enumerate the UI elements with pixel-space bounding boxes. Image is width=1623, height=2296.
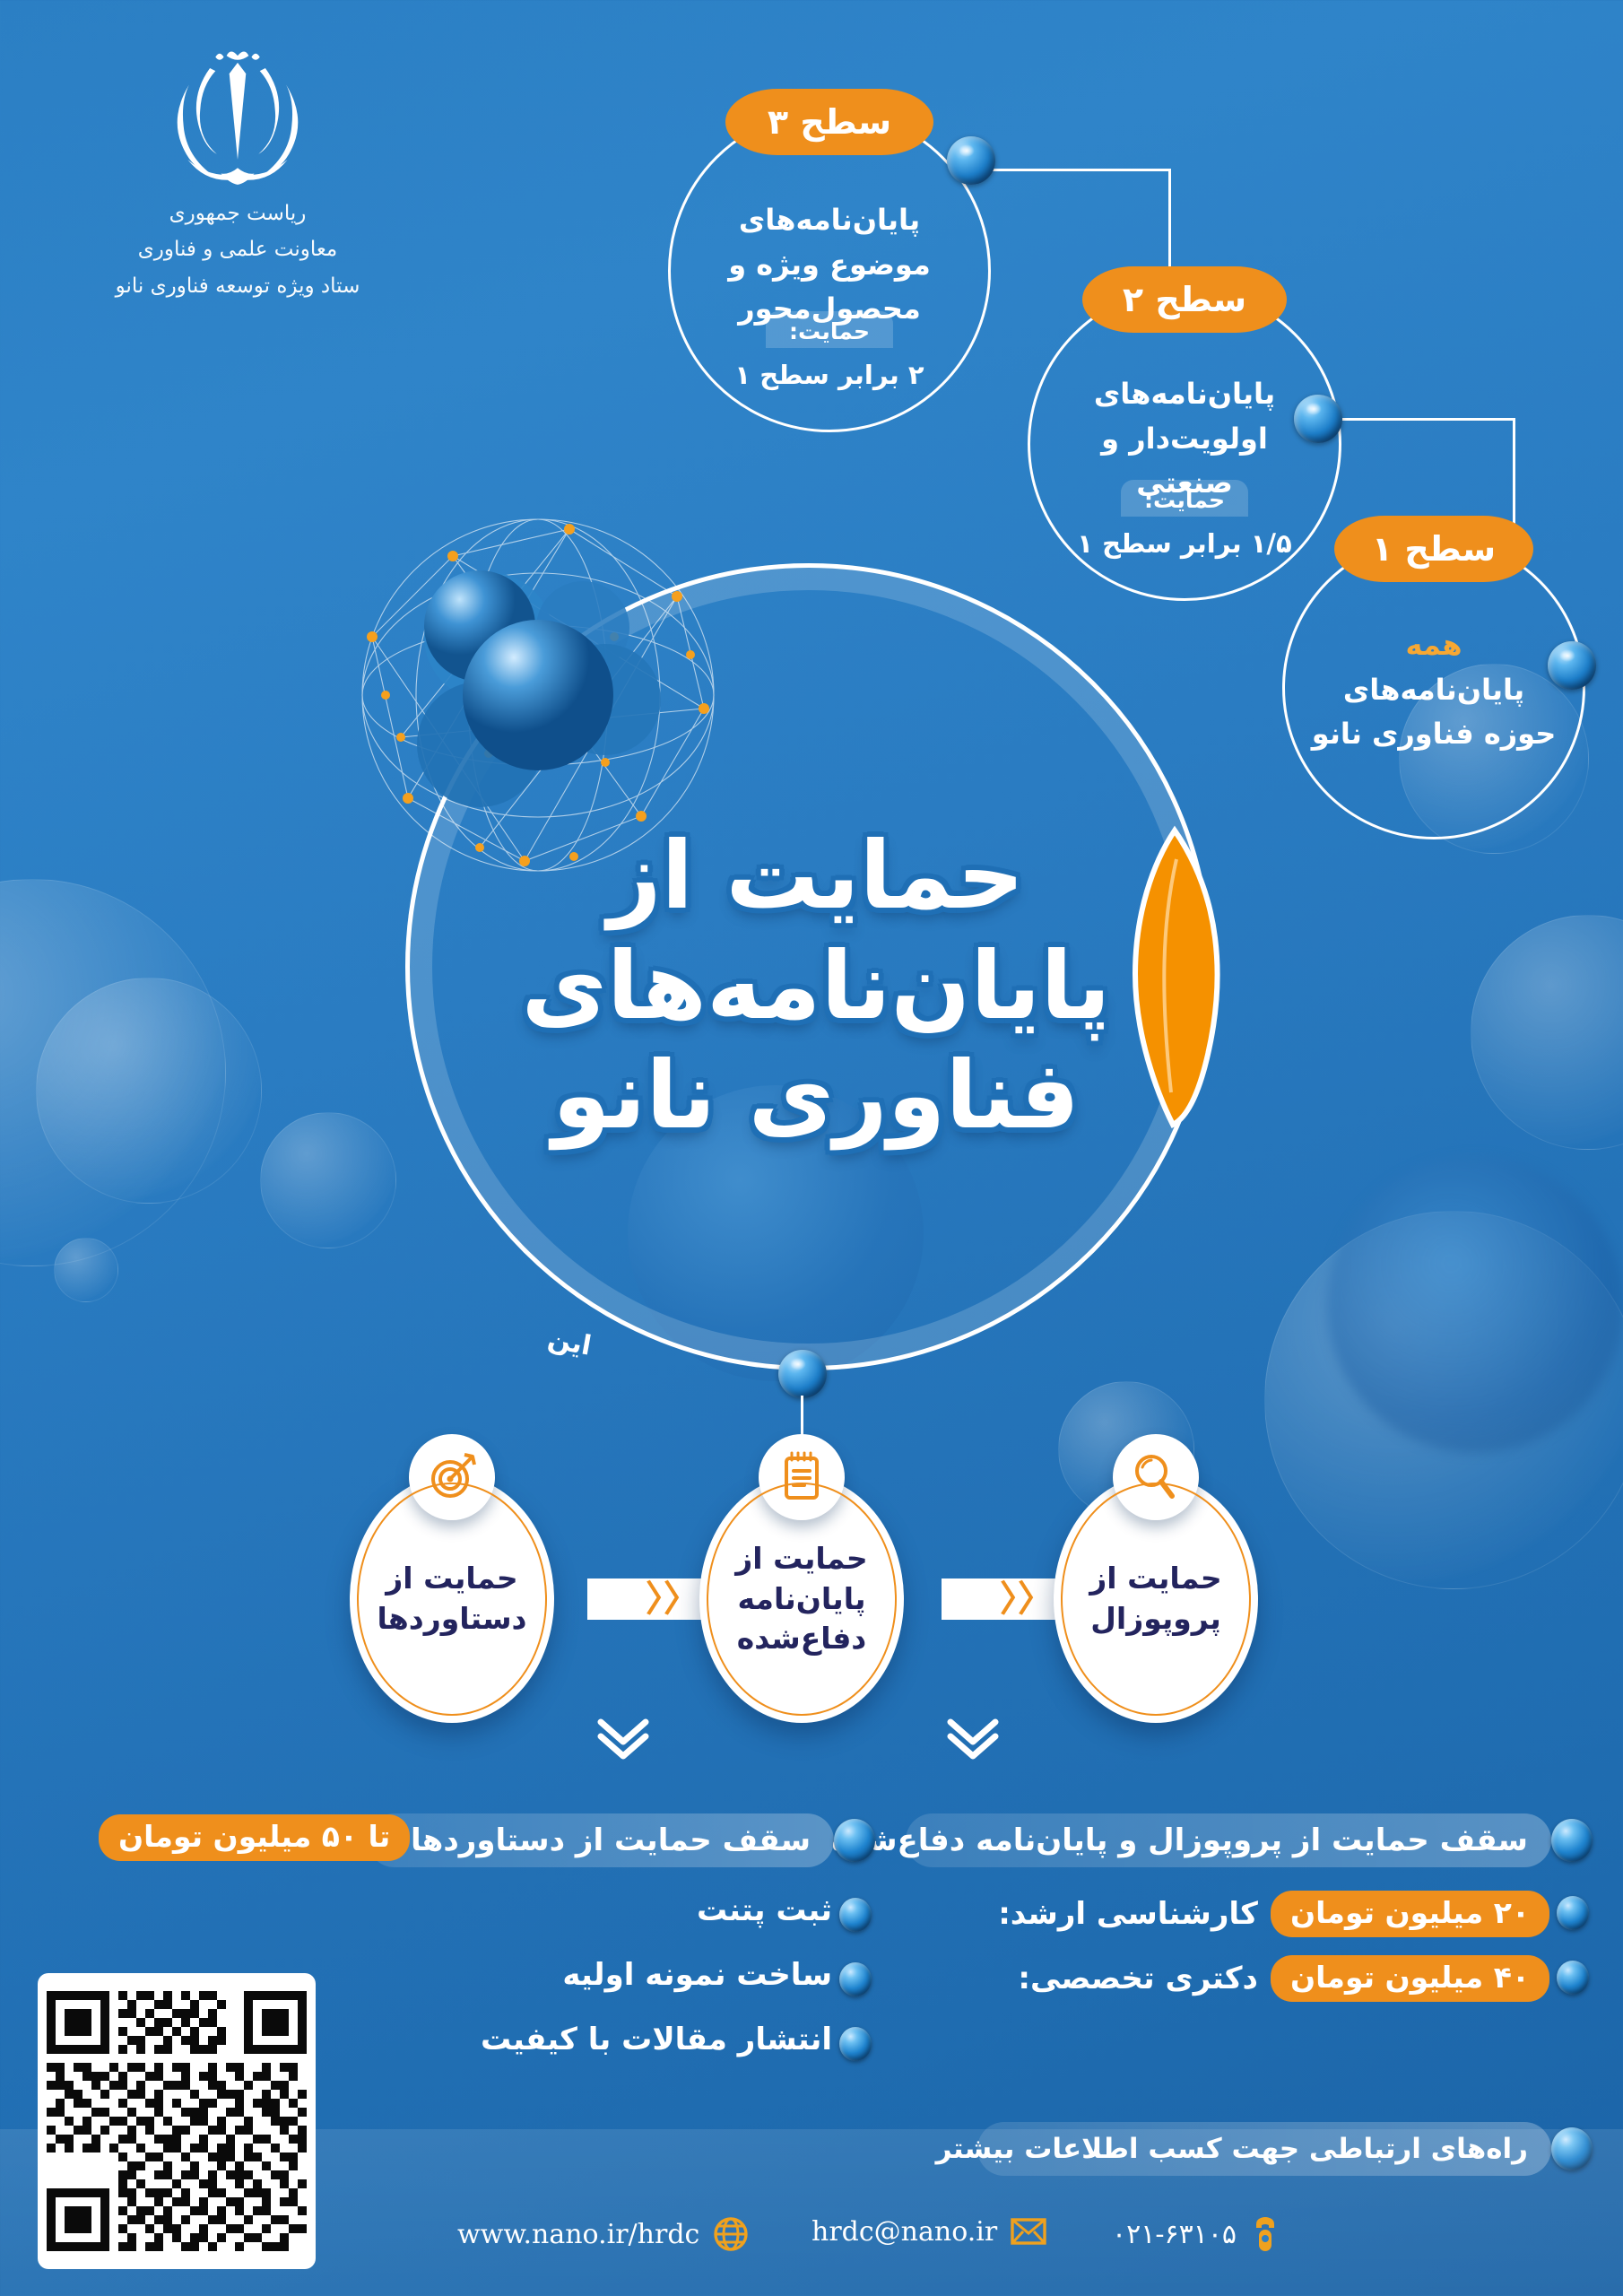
bg-bubble xyxy=(1264,1211,1623,1589)
stage-proposal-label: حمایت از پروپوزال xyxy=(1077,1559,1234,1639)
bg-bubble xyxy=(0,879,226,1266)
level-1-node xyxy=(1548,641,1596,690)
stage-achievements-label: حمایت از دستاوردها xyxy=(365,1559,540,1639)
level-3-node xyxy=(947,136,995,185)
organization-logo: ریاست جمهوری معاونت علمی و فناوری ستاد و… xyxy=(94,38,381,304)
bg-bubble xyxy=(54,1238,118,1302)
telephone-icon xyxy=(1249,2213,1281,2255)
org-line-1: ریاست جمهوری xyxy=(94,196,381,231)
level-2-support-label: حمایت: xyxy=(1121,480,1248,517)
info-left-item[interactable]: ثبت پتنت xyxy=(697,1892,832,1928)
stage-defended-thesis-inner: حمایت از پایان‌نامه دفاع‌شده xyxy=(707,1483,897,1716)
connector-level3-level2 xyxy=(992,169,1171,171)
bullet-drop-icon xyxy=(839,1898,872,1932)
info-right-row-value: ۲۰ میلیون تومان xyxy=(1271,1891,1549,1937)
phone-text: ۰۲۱-۶۳۱۰۵ xyxy=(1112,2219,1237,2250)
bullet-drop-icon xyxy=(1557,1961,1589,1995)
level-3-circle[interactable]: سطح ۳ پایان‌نامه‌های موضوع ویژه و محصول‌… xyxy=(668,109,991,432)
iran-national-emblem-icon xyxy=(152,38,323,190)
info-right-row-label: دکتری تخصصی: xyxy=(1018,1961,1258,1996)
bullet-drop-icon xyxy=(839,1962,872,1996)
info-right-row[interactable]: دکتری تخصصی: ۴۰ میلیون تومان xyxy=(1018,1955,1549,2002)
info-left-heading-pill: تا ۵۰ میلیون تومان xyxy=(99,1819,410,1854)
level-3-badge: سطح ۳ xyxy=(725,89,933,155)
level-2-node xyxy=(1294,395,1342,443)
connector-level2-level1 xyxy=(1336,418,1515,421)
page-title: حمایت از پایان‌نامه‌های فناوری نانو xyxy=(502,821,1130,1151)
chevron-down-double-icon xyxy=(592,1713,655,1763)
bg-bubble xyxy=(36,978,262,1204)
title-line-1: حمایت از xyxy=(502,821,1130,931)
bg-bubble xyxy=(1327,1157,1623,1453)
stage-achievements-inner: حمایت از دستاوردها xyxy=(357,1483,547,1716)
globe-icon xyxy=(712,2215,750,2253)
level-2-badge: سطح ۲ xyxy=(1082,266,1287,333)
level-1-text-highlight: همه xyxy=(1405,628,1462,662)
contact-phone[interactable]: ۰۲۱-۶۳۱۰۵ xyxy=(1112,2213,1281,2255)
info-right-row-label: کارشناسی ارشد: xyxy=(998,1896,1258,1932)
stage-proposal[interactable]: حمایت از پروپوزال xyxy=(1054,1475,1258,1723)
stage-achievements[interactable]: حمایت از دستاوردها xyxy=(350,1475,554,1723)
bullet-drop-icon xyxy=(839,2027,872,2061)
contact-email[interactable]: hrdc@nano.ir xyxy=(811,2215,1047,2248)
website-text: www.nano.ir/hrdc xyxy=(457,2219,699,2250)
level-3-support-value: ۲ برابر سطح ۱ xyxy=(671,360,988,390)
bullet-drop-icon xyxy=(1551,1819,1593,1862)
org-line-2: معاونت علمی و فناوری xyxy=(94,231,381,267)
bg-bubble xyxy=(1471,915,1623,1150)
level-1-text-rest: پایان‌نامه‌های xyxy=(1343,673,1524,707)
info-right-row-value: ۴۰ میلیون تومان xyxy=(1271,1955,1549,2002)
stage-defended-thesis[interactable]: حمایت از پایان‌نامه دفاع‌شده xyxy=(699,1475,904,1723)
level-3-support-label: حمایت: xyxy=(766,311,893,348)
ring-bottom-node xyxy=(778,1350,827,1398)
level-1-text: همه پایان‌نامه‌های حوزه فناوری نانو xyxy=(1285,623,1583,757)
info-left-item[interactable]: انتشار مقالات با کیفیت xyxy=(481,2022,832,2057)
title-line-2: پایان‌نامه‌های xyxy=(502,931,1130,1041)
info-right-row[interactable]: کارشناسی ارشد: ۲۰ میلیون تومان xyxy=(998,1891,1549,1937)
qr-code[interactable] xyxy=(38,1973,316,2269)
level-1-badge: سطح ۱ xyxy=(1334,516,1533,582)
chevron-left-icon: 〈〈 xyxy=(646,1581,699,1617)
stage-defended-thesis-label: حمایت از پایان‌نامه دفاع‌شده xyxy=(723,1539,880,1659)
title-line-3: فناوری نانو xyxy=(502,1040,1130,1151)
chevron-left-icon: 〈〈 xyxy=(1000,1581,1054,1617)
level-1-text-line2: حوزه فناوری نانو xyxy=(1312,717,1557,751)
ring-orange-marker xyxy=(1121,823,1237,1128)
bullet-drop-icon xyxy=(1557,1896,1589,1930)
connector-level2-level1-vert xyxy=(1513,418,1515,536)
bullet-drop-icon xyxy=(834,1819,875,1862)
stage-proposal-inner: حمایت از پروپوزال xyxy=(1061,1483,1251,1716)
envelope-icon xyxy=(1010,2215,1047,2248)
info-left-heading: سقف حمایت از دستاوردها xyxy=(368,1813,834,1867)
email-text: hrdc@nano.ir xyxy=(811,2216,997,2248)
info-right-heading: سقف حمایت از پروپوزال و پایان‌نامه دفاع‌… xyxy=(906,1813,1551,1867)
chevron-down-double-icon xyxy=(942,1713,1004,1763)
org-line-3: ستاد ویژه توسعه فناوری نانو xyxy=(94,268,381,304)
info-left-item[interactable]: ساخت نمونه اولیه xyxy=(562,1957,832,1993)
qr-code-graphic xyxy=(47,1982,307,2260)
level-1-circle[interactable]: سطح ۱ همه پایان‌نامه‌های حوزه فناوری نان… xyxy=(1282,536,1585,839)
contact-website[interactable]: www.nano.ir/hrdc xyxy=(457,2215,750,2253)
